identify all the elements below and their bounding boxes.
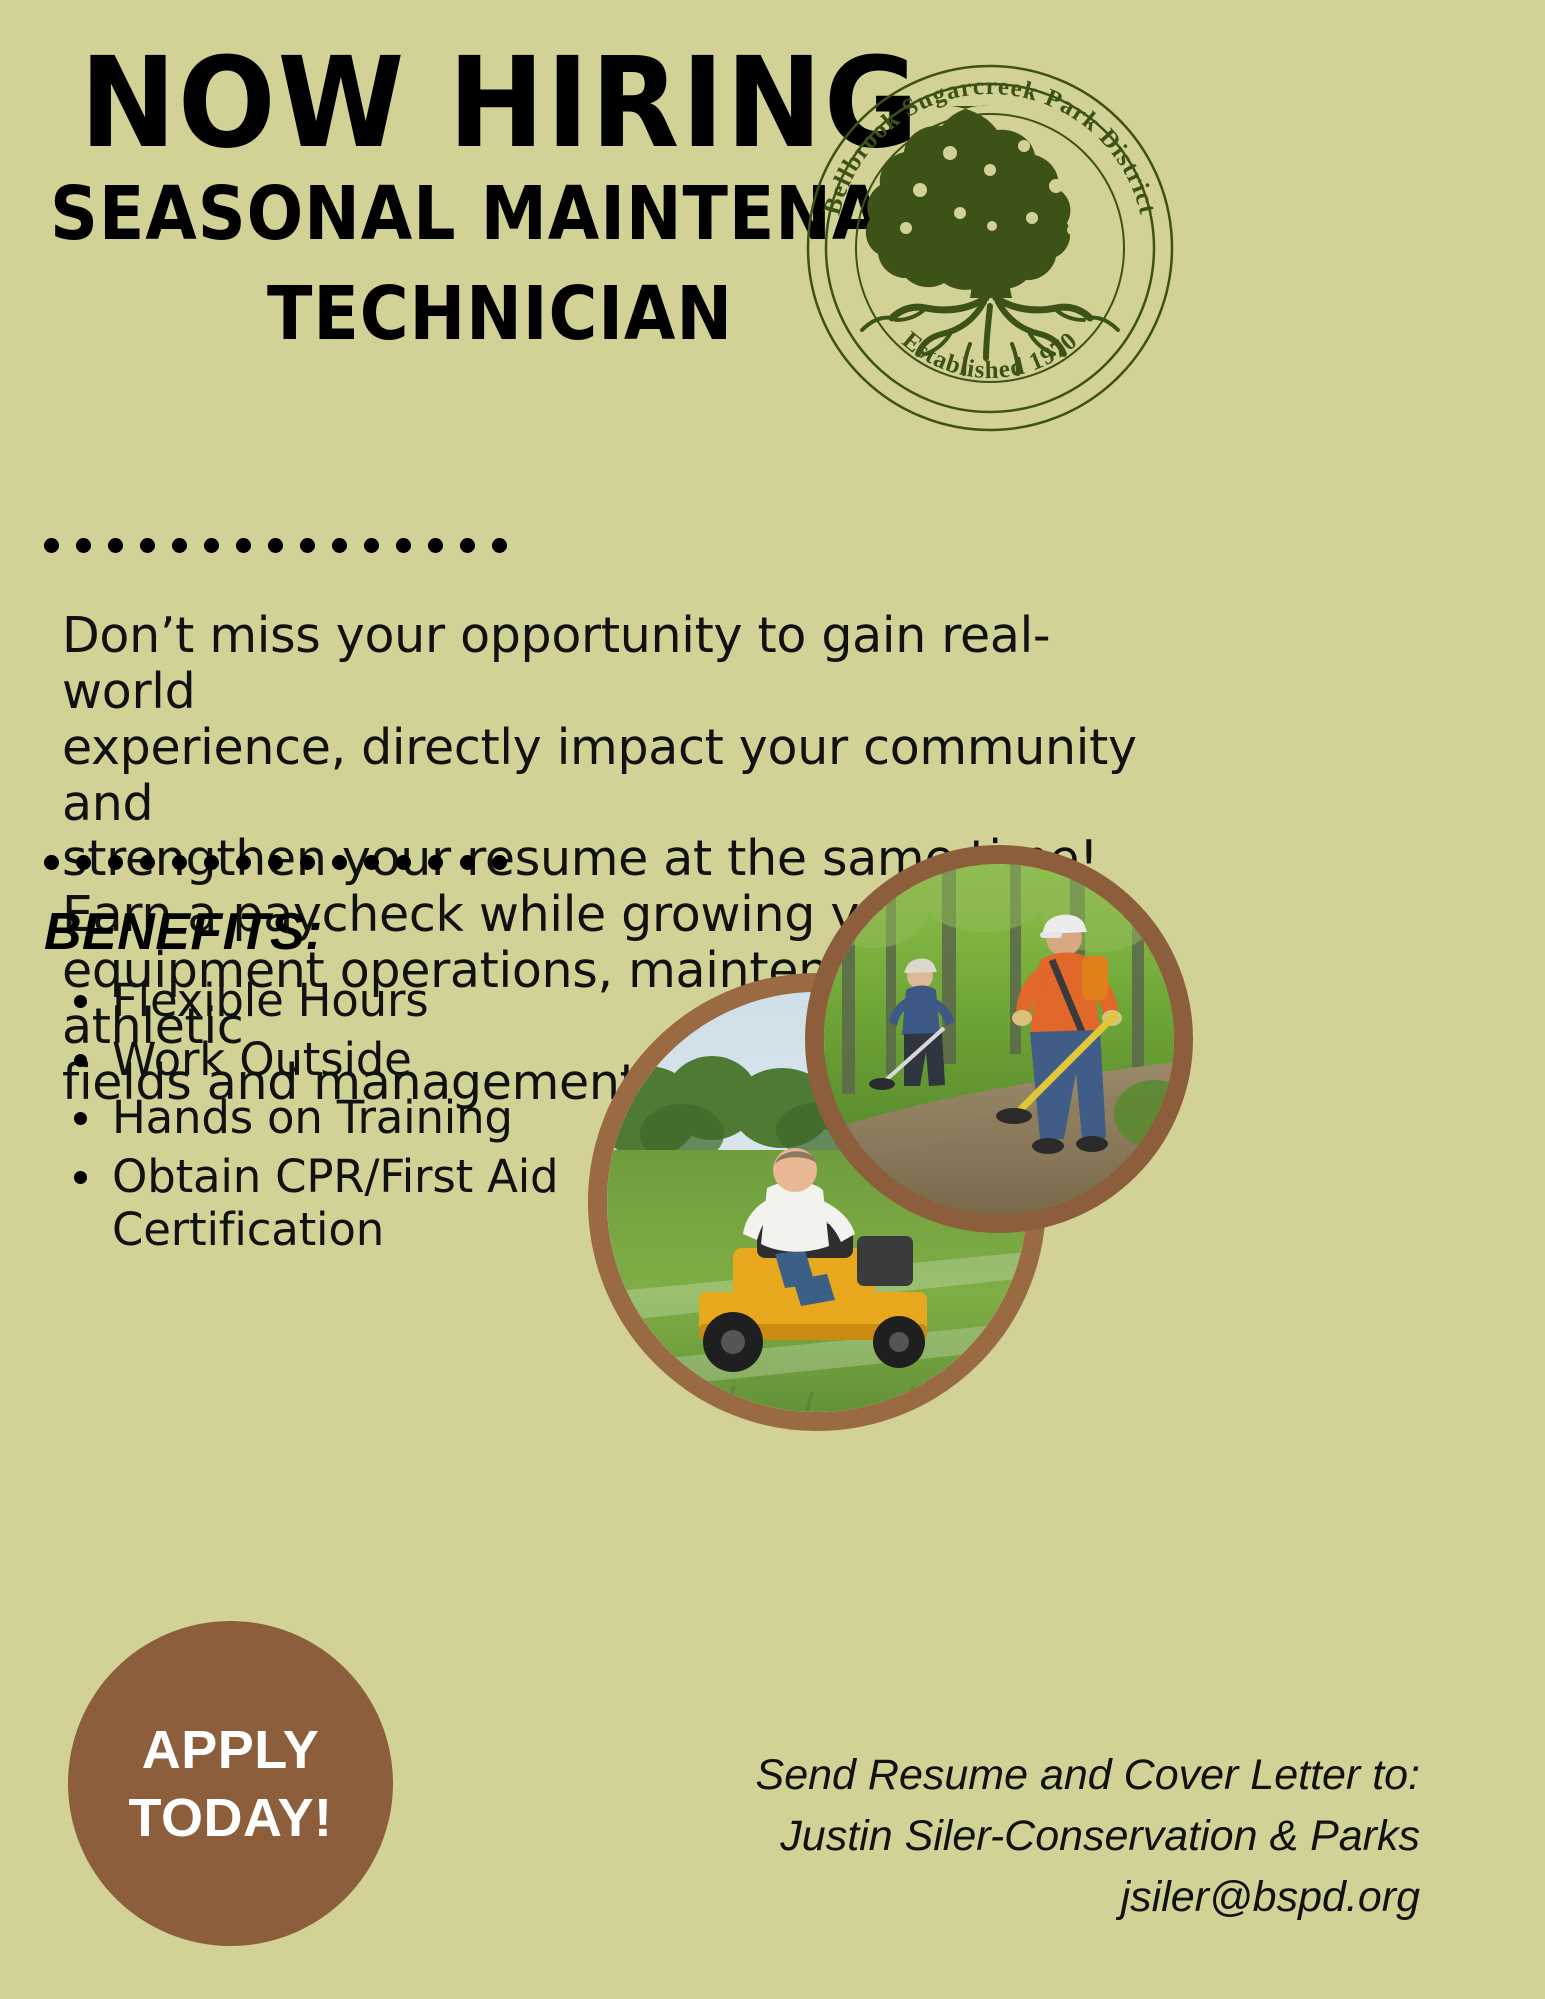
dotted-divider-top bbox=[44, 538, 507, 553]
apply-today-badge[interactable]: APPLY TODAY! bbox=[68, 1621, 393, 1946]
divider-dot bbox=[204, 855, 219, 870]
benefit-label: Flexible Hours bbox=[112, 974, 429, 1027]
divider-dot bbox=[268, 855, 283, 870]
divider-dot bbox=[364, 855, 379, 870]
body-line-1: Don’t miss your opportunity to gain real… bbox=[62, 608, 1172, 720]
divider-dot bbox=[236, 855, 251, 870]
apply-line-1: APPLY bbox=[142, 1723, 320, 1777]
contact-email[interactable]: jsiler@bspd.org bbox=[756, 1867, 1420, 1928]
benefits-heading: BENEFITS: bbox=[44, 902, 323, 962]
bullet-icon bbox=[74, 1054, 87, 1067]
job-posting-flyer: NOW HIRING SEASONAL MAINTENANCE TECHNICI… bbox=[0, 0, 1545, 1999]
benefit-label: Hands on Training bbox=[112, 1091, 513, 1144]
divider-dot bbox=[268, 538, 283, 553]
divider-dot bbox=[76, 855, 91, 870]
divider-dot bbox=[300, 855, 315, 870]
divider-dot bbox=[44, 538, 59, 553]
contact-instruction: Send Resume and Cover Letter to: bbox=[756, 1745, 1420, 1806]
bullet-icon bbox=[74, 1112, 87, 1125]
divider-dot bbox=[300, 538, 315, 553]
dotted-divider-bottom bbox=[44, 855, 507, 870]
divider-dot bbox=[108, 855, 123, 870]
benefit-label: Obtain CPR/First Aid Certification bbox=[112, 1150, 558, 1256]
divider-dot bbox=[172, 855, 187, 870]
body-line-2: experience, directly impact your communi… bbox=[62, 720, 1172, 832]
divider-dot bbox=[492, 538, 507, 553]
divider-dot bbox=[172, 538, 187, 553]
benefit-label: Work Outside bbox=[112, 1033, 412, 1086]
divider-dot bbox=[428, 538, 443, 553]
divider-dot bbox=[332, 538, 347, 553]
divider-dot bbox=[460, 855, 475, 870]
divider-dot bbox=[108, 538, 123, 553]
divider-dot bbox=[140, 538, 155, 553]
divider-dot bbox=[76, 538, 91, 553]
apply-line-2: TODAY! bbox=[128, 1791, 332, 1845]
divider-dot bbox=[236, 538, 251, 553]
divider-dot bbox=[492, 855, 507, 870]
bullet-icon bbox=[74, 1171, 87, 1184]
list-item: Flexible Hours bbox=[112, 975, 732, 1028]
divider-dot bbox=[44, 855, 59, 870]
park-district-logo: Bellbrook Sugarcreek Park District Estab… bbox=[800, 58, 1180, 438]
photo-workers-with-string-trimmers bbox=[805, 845, 1193, 1233]
divider-dot bbox=[364, 538, 379, 553]
contact-name: Justin Siler-Conservation & Parks bbox=[756, 1806, 1420, 1867]
divider-dot bbox=[204, 538, 219, 553]
contact-block: Send Resume and Cover Letter to: Justin … bbox=[756, 1745, 1420, 1928]
tree-canopy-shape bbox=[866, 106, 1071, 290]
bullet-icon bbox=[74, 995, 87, 1008]
divider-dot bbox=[428, 855, 443, 870]
divider-dot bbox=[396, 855, 411, 870]
divider-dot bbox=[396, 538, 411, 553]
divider-dot bbox=[140, 855, 155, 870]
divider-dot bbox=[460, 538, 475, 553]
divider-dot bbox=[332, 855, 347, 870]
